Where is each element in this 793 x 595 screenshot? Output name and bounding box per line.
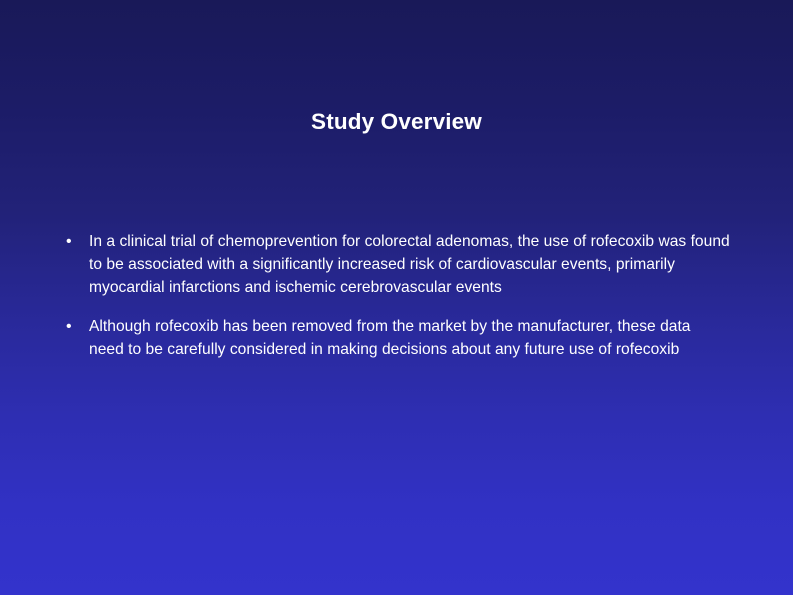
list-item-text: In a clinical trial of chemoprevention f…	[89, 230, 732, 300]
bullet-dot-icon: •	[66, 230, 80, 253]
slide-body: • In a clinical trial of chemoprevention…	[62, 230, 752, 361]
list-item: • Although rofecoxib has been removed fr…	[62, 315, 752, 361]
page-title: Study Overview	[0, 107, 793, 137]
list-item-text: Although rofecoxib has been removed from…	[89, 315, 695, 361]
presentation-slide: Study Overview • In a clinical trial of …	[0, 0, 793, 595]
list-item: • In a clinical trial of chemoprevention…	[62, 230, 752, 300]
bullet-dot-icon: •	[66, 315, 80, 338]
